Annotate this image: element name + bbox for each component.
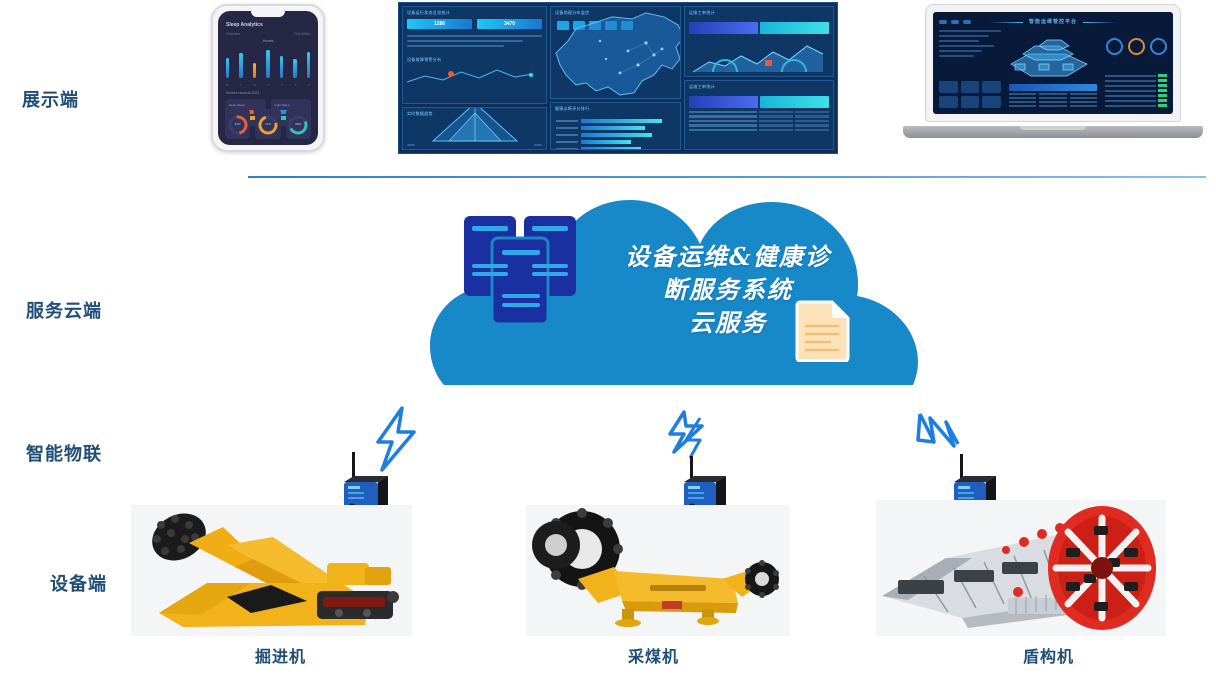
table-row (689, 115, 829, 118)
wall-panel-workorder: 运维工单统计 (684, 6, 834, 77)
phone-gauge-row: 62% 74% 88% (225, 109, 311, 139)
phone-section-title: Recent records 2021 (226, 91, 259, 95)
wall-gauge-pair (690, 59, 828, 72)
tier-divider (248, 176, 1206, 178)
table-row (689, 124, 829, 127)
wall-workorder-header (685, 19, 833, 40)
shearer-drum-right (745, 560, 779, 598)
laptop-lid: 智能运维管控平台 (925, 4, 1181, 122)
roadheader-graphic (131, 505, 412, 636)
phone-subtitle-right: This Week (294, 32, 310, 36)
roadheader-machine (131, 505, 412, 636)
tier-label-iot: 智能物联 (26, 440, 102, 466)
phone-gauge-3: 88% (286, 109, 311, 139)
coal-shearer-graphic (526, 505, 790, 636)
tier-label-device: 设备端 (50, 570, 107, 596)
cloud-title-line-1: 设备运维&健康诊 (594, 240, 862, 273)
wall-panel-overview-title: 设备运行状态总览统计 (403, 7, 546, 19)
wall-panel-overview: 设备运行状态总览统计 1286 3470 设备故障预警分析 (402, 6, 547, 104)
wall-kpi-1-value: 1286 (407, 19, 472, 29)
3d-equipment-model (995, 30, 1111, 88)
wall-sparkline (407, 66, 547, 88)
wall-pyramid-chart (429, 107, 521, 143)
wall-panel-map: 设备地理分布监控 (550, 6, 681, 99)
tier-label-display: 展示端 (22, 86, 79, 112)
equipment-label-coal-shearer: 采煤机 (628, 643, 679, 667)
phone-chart-caption: Hours (263, 38, 274, 43)
phone-axis-labels: MTWTFSS (226, 83, 310, 87)
wall-data-table (685, 93, 833, 137)
table-row (689, 111, 829, 114)
wall-panel-ranking-title: 健康诊断评分排行 (551, 103, 680, 115)
wall-panel-trend: 实时数据趋势 (402, 107, 547, 150)
laptop-screen: 智能运维管控平台 (933, 12, 1173, 114)
table-row (1009, 97, 1097, 99)
phone-gauge-1: 62% (225, 109, 250, 139)
wall-overview-lines (403, 31, 546, 54)
laptop-gauge-rings (1106, 38, 1167, 55)
laptop-status-list (1105, 74, 1167, 109)
wall-kpi-2-value: 3470 (477, 19, 542, 29)
server-stack-icon (462, 214, 588, 326)
phone-notch (251, 11, 285, 17)
phone-bar-chart (226, 46, 310, 78)
phone-dashboard-title: Sleep Analytics (226, 22, 263, 28)
coal-shearer-machine (526, 505, 790, 636)
phone-gauge-1-value: 62% (235, 122, 241, 126)
wall-panel-workorder-title: 运维工单统计 (685, 7, 833, 19)
equipment-label-roadheader: 掘进机 (255, 643, 306, 667)
shield-tunnel-boring-machine (876, 500, 1166, 636)
phone-gauge-2-value: 74% (265, 122, 271, 126)
laptop-mockup: 智能运维管控平台 (903, 4, 1203, 144)
wall-panel-table: 运维工单统计 (684, 80, 834, 151)
laptop-dashboard-title: 智能运维管控平台 (1029, 18, 1077, 25)
video-wall-dashboard: 设备运行状态总览统计 1286 3470 设备故障预警分析 实时数据趋势 (398, 2, 838, 154)
laptop-data-table (1009, 84, 1097, 109)
tbm-graphic (876, 500, 1166, 636)
wall-panel-warning-title: 设备故障预警分析 (403, 54, 546, 66)
table-row (689, 129, 829, 132)
table-row (1009, 93, 1097, 95)
table-row (689, 120, 829, 123)
laptop-kpi-tiles (939, 81, 1001, 108)
equipment-label-shield-machine: 盾构机 (1023, 643, 1074, 667)
cloud-service-group: 设备运维&健康诊 断服务系统 云服务 (422, 192, 942, 392)
phone-card-left-title: Deep Sleep (229, 103, 262, 107)
china-map (550, 6, 681, 99)
laptop-left-panel (939, 30, 1001, 60)
phone-screen: Sleep Analytics Overview This Week Hours… (218, 11, 318, 145)
wall-horizontal-bars (551, 115, 680, 150)
tier-label-cloud: 服务云端 (26, 297, 102, 323)
wall-kpi-row: 1286 3470 (403, 19, 546, 31)
wall-trend-footer (407, 144, 542, 146)
phone-gauge-3-value: 88% (295, 122, 301, 126)
phone-subtitle-left: Overview (226, 32, 240, 36)
phone-card-right-title: Light Sleep (275, 103, 308, 107)
signal-bolt-icon (378, 408, 414, 470)
phone-gauge-2: 74% (255, 109, 280, 139)
wall-panel-ranking: 健康诊断评分排行 (550, 102, 681, 150)
laptop-base (903, 126, 1203, 138)
smartphone-mockup: Sleep Analytics Overview This Week Hours… (211, 4, 325, 152)
table-row (1009, 101, 1097, 103)
laptop-nav-buttons[interactable] (939, 20, 971, 24)
table-row (1009, 105, 1097, 107)
wall-panel-table-title: 运维工单统计 (685, 81, 833, 93)
cutterhead (1048, 506, 1156, 630)
document-icon (794, 300, 852, 362)
